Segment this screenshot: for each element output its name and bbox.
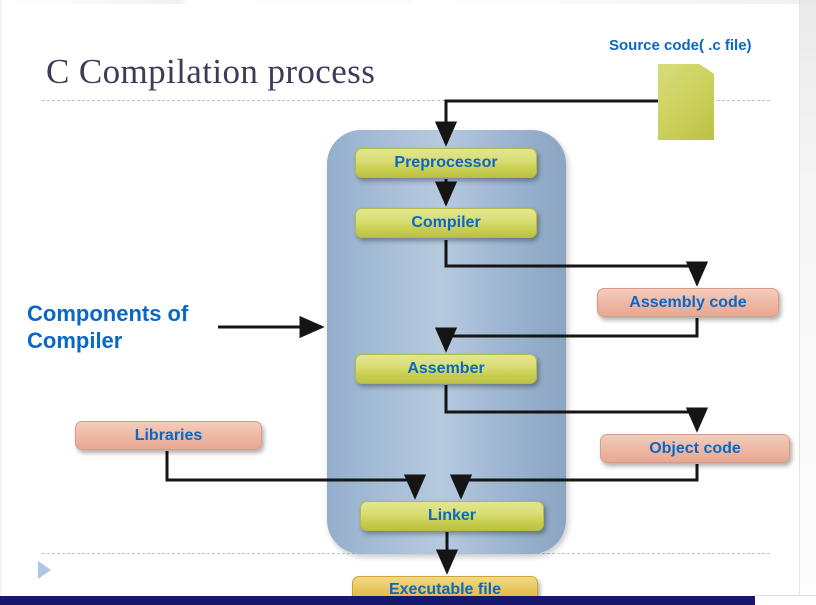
compiler-container-panel [327,130,566,554]
node-preprocessor[interactable]: Preprocessor [355,148,537,178]
node-object-code[interactable]: Object code [600,434,790,463]
node-linker[interactable]: Linker [360,501,544,531]
source-code-label: Source code( .c file) [609,37,752,54]
play-triangle-icon [38,561,51,579]
slide-right-margin [799,0,816,605]
node-libraries[interactable]: Libraries [75,421,262,450]
page-title: C Compilation process [46,52,375,92]
node-assember[interactable]: Assember [355,354,537,384]
components-of-compiler-label: Components of Compiler [27,300,188,354]
bottom-accent-bar [0,596,755,605]
bottom-bar-tail [755,595,816,605]
slide-canvas: C Compilation process Source code( .c fi… [0,0,816,605]
slide-left-edge [0,0,2,605]
node-compiler[interactable]: Compiler [355,208,537,238]
node-assembly-code[interactable]: Assembly code [597,288,779,317]
source-code-document-icon [658,64,714,140]
slide-top-edge [0,0,816,4]
